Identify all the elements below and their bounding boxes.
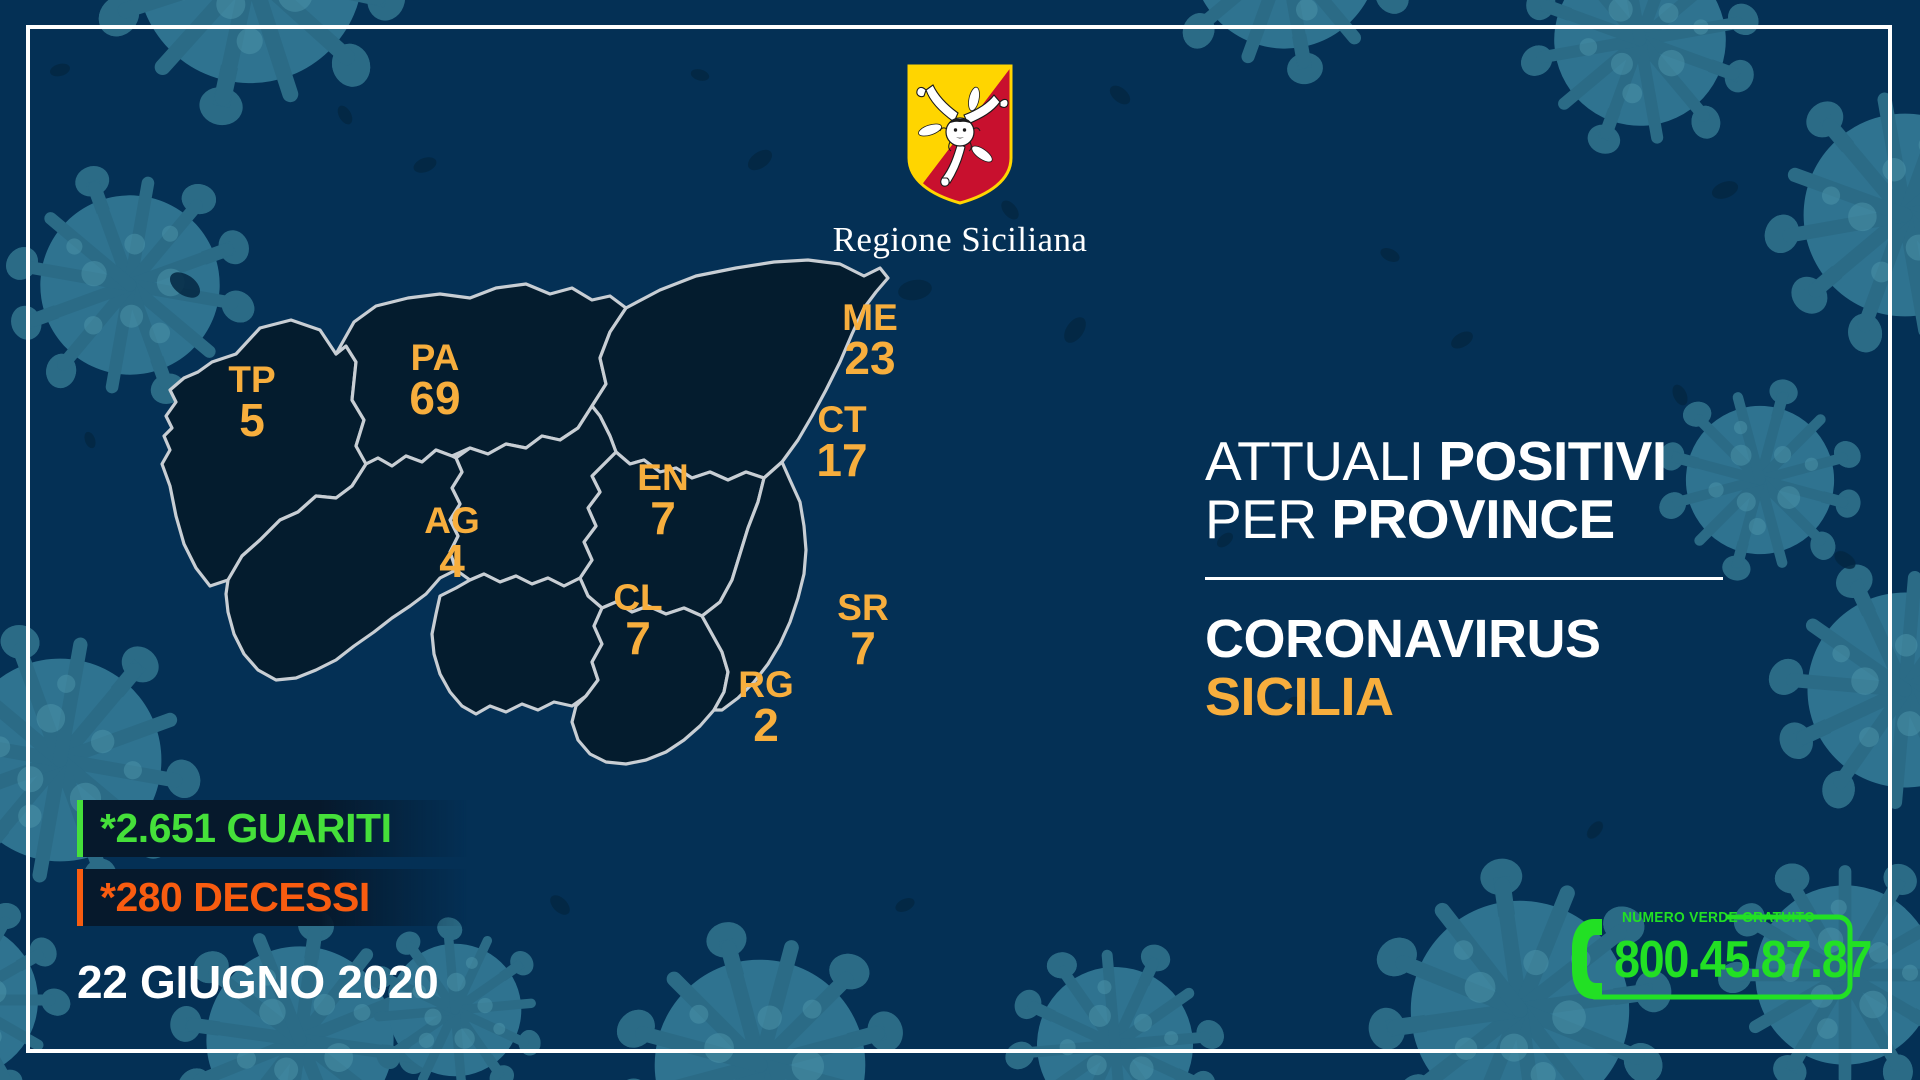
stats-block: *2.651 GUARITI *280 DECESSI (77, 800, 467, 938)
sicilian-trinacria-crest-icon (905, 62, 1015, 207)
province-value-sr: 7 (850, 622, 876, 674)
phone-handset-icon (1572, 919, 1602, 999)
stat-label-decessi: *280 DECESSI (83, 877, 370, 918)
headline-line-2: PER PROVINCE (1205, 490, 1765, 548)
headline-divider (1205, 577, 1723, 580)
province-value-en: 7 (650, 492, 676, 544)
stat-row-guariti: *2.651 GUARITI (77, 800, 467, 857)
headline-line-2-light: PER (1205, 488, 1331, 550)
province-value-tp: 5 (239, 394, 265, 446)
province-value-rg: 2 (753, 699, 779, 751)
headline-line-1: ATTUALI POSITIVI (1205, 432, 1765, 490)
toll-free-number[interactable]: 800.45.87.87 (1614, 930, 1871, 990)
province-value-ag: 4 (439, 535, 465, 587)
infographic-root: Regione Siciliana (0, 0, 1920, 1080)
province-value-me: 23 (844, 332, 895, 384)
headline-line-1-bold: POSITIVI (1438, 430, 1666, 492)
subtitle-sicilia: SICILIA (1205, 668, 1765, 726)
report-date: 22 GIUGNO 2020 (77, 955, 438, 1009)
stat-row-decessi: *280 DECESSI (77, 869, 467, 926)
headline-line-2-bold: PROVINCE (1331, 488, 1614, 550)
toll-free-number-block[interactable]: NUMERO VERDE GRATUITO 800.45.87.87 (1560, 905, 1860, 1010)
province-value-pa: 69 (409, 372, 460, 424)
subtitle-coronavirus: CORONAVIRUS (1205, 610, 1765, 668)
toll-free-caption: NUMERO VERDE GRATUITO (1622, 909, 1815, 926)
headline-line-1-light: ATTUALI (1205, 430, 1438, 492)
province-value-ct: 17 (816, 434, 867, 486)
province-value-cl: 7 (625, 612, 651, 664)
map-region-cl (432, 574, 602, 714)
headline-block: ATTUALI POSITIVI PER PROVINCE CORONAVIRU… (1205, 432, 1765, 726)
stat-label-guariti: *2.651 GUARITI (83, 808, 392, 849)
header: Regione Siciliana (0, 62, 1920, 257)
